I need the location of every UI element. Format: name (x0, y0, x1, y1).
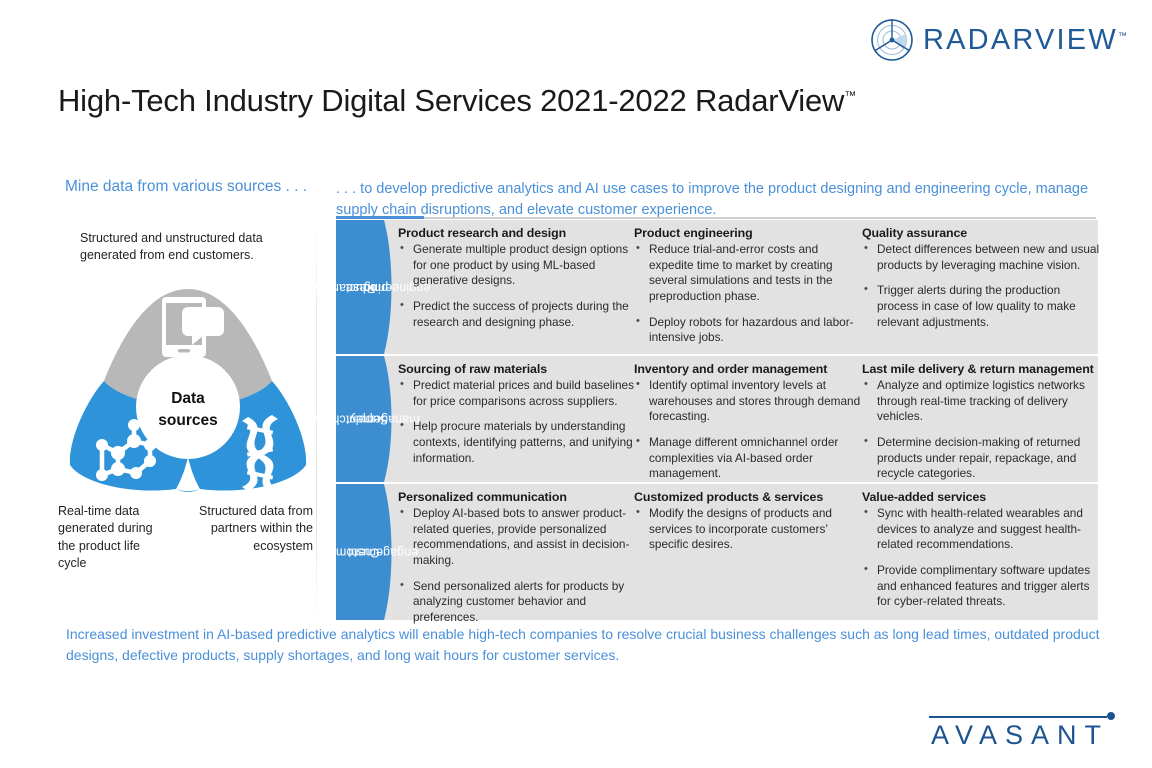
bullet-item: Provide complimentary software updates a… (862, 563, 1102, 610)
cell-heading: Product engineering (634, 226, 862, 240)
bullet-item: Trigger alerts during the production pro… (862, 283, 1102, 330)
grid-row-supply-chain-management: Supply chain management Sourcing of raw … (336, 356, 1098, 482)
slide-canvas: RADARVIEW™ High-Tech Industry Digital Se… (0, 0, 1152, 768)
left-subtext: Structured and unstructured data generat… (80, 230, 310, 265)
avasant-wordmark: AVASANT (915, 720, 1125, 751)
bullet-item: Determine decision-making of returned pr… (862, 435, 1102, 482)
cell-bullets: Generate multiple product design options… (398, 242, 634, 330)
grid-cell: Last mile delivery & return management A… (862, 362, 1102, 492)
row-label-supply-chain-management: Supply chain management (336, 356, 398, 482)
bottom-note: Increased investment in AI-based predict… (66, 624, 1106, 666)
bullet-item: Detect differences between new and usual… (862, 242, 1102, 273)
radarview-name: RADARVIEW (923, 24, 1118, 56)
intro-accent-rule (336, 216, 424, 219)
data-sources-diagram: Data sources (58, 283, 318, 503)
center-label-line2: sources (158, 412, 217, 429)
bullet-item: Predict material prices and build baseli… (398, 378, 634, 409)
bullet-item: Analyze and optimize logistics networks … (862, 378, 1102, 425)
cell-bullets: Sync with health-related wearables and d… (862, 506, 1102, 610)
radarview-tm: ™ (1118, 30, 1127, 40)
grid-cell: Customized products & services Modify th… (634, 490, 862, 563)
radar-target-icon (870, 18, 914, 62)
bullet-item: Generate multiple product design options… (398, 242, 634, 289)
row-label-research-and-product-engineering: Research and product engineering (336, 220, 398, 354)
cell-bullets: Detect differences between new and usual… (862, 242, 1102, 330)
radarview-logo: RADARVIEW™ (870, 18, 1127, 62)
avasant-rule (929, 716, 1107, 718)
grid-cell: Quality assurance Detect differences bet… (862, 226, 1102, 340)
cell-heading: Personalized communication (398, 490, 634, 504)
cell-heading: Value-added services (862, 490, 1102, 504)
cell-heading: Customized products & services (634, 490, 862, 504)
grid-row-customer-engagement: Customer engagement Personalized communi… (336, 484, 1098, 620)
bullet-item: Identify optimal inventory levels at war… (634, 378, 862, 425)
page-title: High-Tech Industry Digital Services 2021… (58, 83, 856, 119)
grid-cell: Inventory and order management Identify … (634, 362, 862, 492)
label-bottom-right: Structured data from partners within the… (178, 503, 313, 555)
cell-heading: Sourcing of raw materials (398, 362, 634, 376)
cell-bullets: Identify optimal inventory levels at war… (634, 378, 862, 482)
grid-cell: Product research and design Generate mul… (398, 226, 634, 340)
bullet-item: Send personalized alerts for products by… (398, 579, 634, 626)
cell-heading: Product research and design (398, 226, 634, 240)
bullet-item: Deploy AI-based bots to answer product-r… (398, 506, 634, 569)
grid-cell: Sourcing of raw materials Predict materi… (398, 362, 634, 476)
cell-bullets: Deploy AI-based bots to answer product-r… (398, 506, 634, 626)
intro-rule (424, 217, 1096, 219)
bullet-item: Sync with health-related wearables and d… (862, 506, 1102, 553)
capability-grid: Research and product engineering Product… (336, 220, 1098, 620)
grid-cell: Personalized communication Deploy AI-bas… (398, 490, 634, 636)
bullet-item: Predict the success of projects during t… (398, 299, 634, 330)
cell-heading: Quality assurance (862, 226, 1102, 240)
intro-paragraph: . . . to develop predictive analytics an… (336, 179, 1096, 220)
radarview-wordmark: RADARVIEW™ (923, 26, 1127, 55)
left-heading: Mine data from various sources . . . (65, 177, 315, 198)
cell-heading: Inventory and order management (634, 362, 862, 376)
grid-cell: Product engineering Reduce trial-and-err… (634, 226, 862, 356)
avasant-dot (1107, 712, 1115, 720)
cell-bullets: Modify the designs of products and servi… (634, 506, 862, 553)
avasant-logo: AVASANT (915, 706, 1125, 758)
center-label-line1: Data (171, 390, 205, 407)
cell-bullets: Analyze and optimize logistics networks … (862, 378, 1102, 482)
bullet-item: Reduce trial-and-error costs and expedit… (634, 242, 862, 305)
cell-bullets: Predict material prices and build baseli… (398, 378, 634, 466)
title-tm: ™ (844, 89, 856, 103)
cell-bullets: Reduce trial-and-error costs and expedit… (634, 242, 862, 346)
page-title-text: High-Tech Industry Digital Services 2021… (58, 83, 844, 118)
grid-row-research-and-product-engineering: Research and product engineering Product… (336, 220, 1098, 354)
label-bottom-left: Real-time data generated during the prod… (58, 503, 168, 572)
cell-heading: Last mile delivery & return management (862, 362, 1102, 376)
bullet-item: Help procure materials by understanding … (398, 419, 634, 466)
row-label-customer-engagement: Customer engagement (336, 484, 398, 620)
bullet-item: Modify the designs of products and servi… (634, 506, 862, 553)
bullet-item: Manage different omnichannel order compl… (634, 435, 862, 482)
bullet-item: Deploy robots for hazardous and labor-in… (634, 315, 862, 346)
grid-cell: Value-added services Sync with health-re… (862, 490, 1102, 620)
